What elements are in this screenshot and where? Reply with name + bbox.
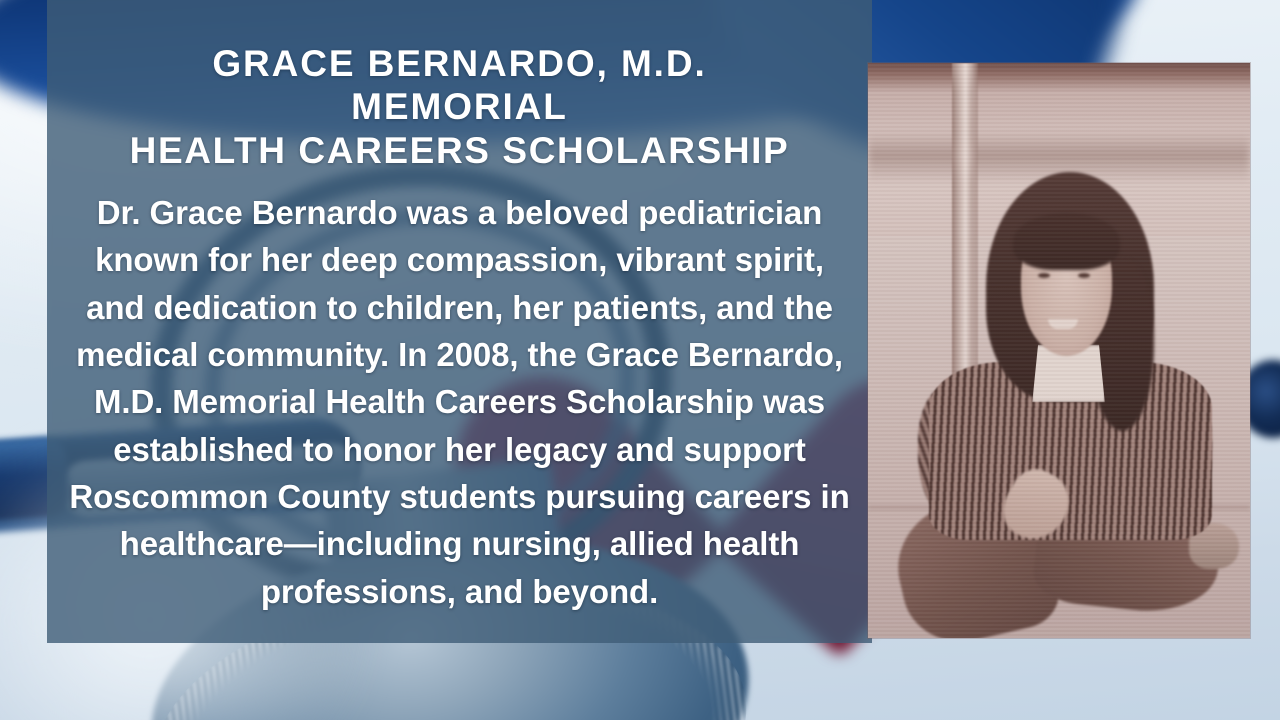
portrait-bangs <box>1013 213 1120 271</box>
page-title-line-3: HEALTH CAREERS SCHOLARSHIP <box>130 129 790 172</box>
portrait-metal-pole <box>952 63 978 408</box>
portrait-photo <box>868 63 1250 638</box>
slide-root: GRACE BERNARDO, M.D. MEMORIAL HEALTH CAR… <box>0 0 1280 720</box>
body-paragraph: Dr. Grace Bernardo was a beloved pediatr… <box>65 189 854 615</box>
page-title-line-2: MEMORIAL <box>130 85 790 128</box>
page-title-line-1: GRACE BERNARDO, M.D. <box>130 42 790 85</box>
page-title: GRACE BERNARDO, M.D. MEMORIAL HEALTH CAR… <box>130 42 790 172</box>
portrait-left-eye <box>1038 273 1050 278</box>
portrait-right-eye <box>1078 273 1090 278</box>
portrait-smile <box>1048 319 1078 329</box>
text-panel: GRACE BERNARDO, M.D. MEMORIAL HEALTH CAR… <box>47 0 872 643</box>
